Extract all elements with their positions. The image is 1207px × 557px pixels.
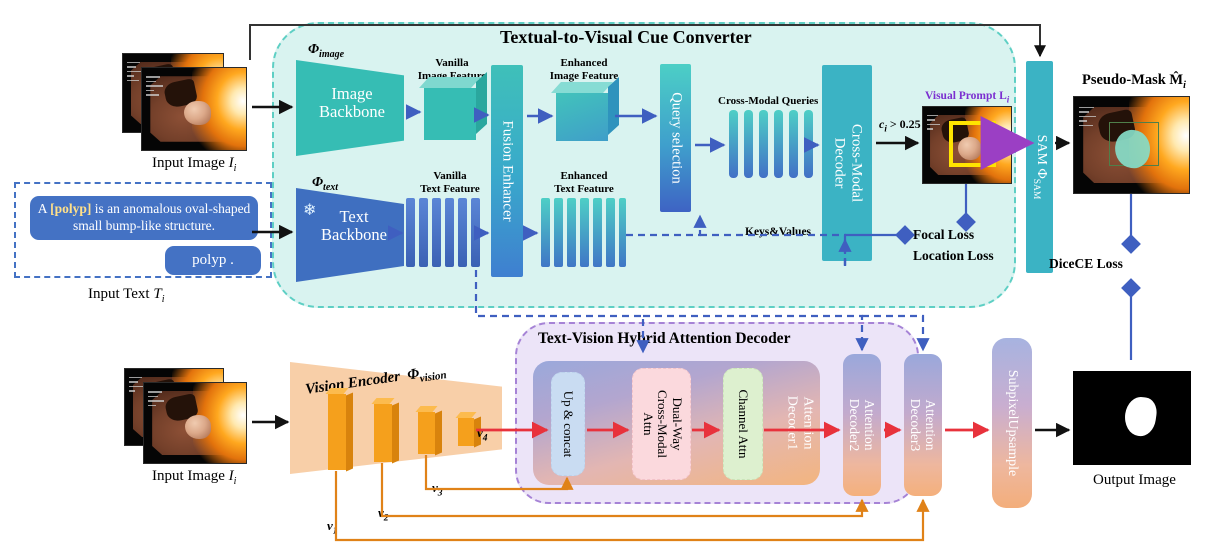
- phi-image-symbol: Φimage: [308, 42, 344, 60]
- vanilla-image-feature-cube: [424, 88, 476, 140]
- vision-stage-1: [328, 394, 346, 470]
- up-and-concat-block: Up & concat: [551, 372, 585, 476]
- attention-decoder-2: Attention Decoder2: [843, 354, 881, 496]
- input-image-caption-top-text: Input Image: [152, 155, 225, 171]
- vanilla-text-feature-label: Vanilla Text Feature: [407, 170, 493, 195]
- input-text-caption: Input Text Ti: [88, 286, 164, 305]
- dual-way-cross-modal-attn-block: Dual-Way Cross-Modal Attn: [632, 368, 691, 480]
- cross-modal-decoder-block: Cross-Modal Decoder: [822, 65, 872, 261]
- input-image-thumb-front: [141, 67, 247, 151]
- dicece-loss-label: DiceCE Loss: [1049, 256, 1123, 272]
- input-image-caption-bottom: Input Image Ii: [152, 468, 236, 487]
- v2-label: v2: [378, 505, 389, 524]
- phi-text-symbol: Φtext: [312, 175, 338, 193]
- output-image: [1073, 371, 1191, 465]
- visual-prompt-image: [922, 106, 1012, 184]
- entity-highlight: [polyp]: [50, 201, 91, 216]
- cross-modal-decoder-label-2: Decoder: [830, 124, 847, 202]
- vision-stage-2: [374, 404, 392, 462]
- vision-stage-3: [418, 412, 435, 454]
- visual-prompt-label: Visual Prompt Li: [925, 90, 1009, 104]
- text-backbone-label: Text Backbone: [304, 208, 404, 244]
- focal-loss-label: Focal Loss: [913, 227, 974, 243]
- sam-block: SAM ΦSAM: [1026, 61, 1053, 273]
- text-prompt-short[interactable]: polyp .: [165, 246, 261, 275]
- keys-values-label: Keys&Values: [745, 226, 811, 238]
- hybrid-decoder-title: Text-Vision Hybrid Attention Decoder: [538, 330, 790, 348]
- bounding-box-highlight: [949, 121, 996, 167]
- fusion-enhancer-label: Fusion Enhancer: [499, 120, 516, 221]
- attention-decoder-1-label-wrap: Attention Decoder1: [781, 361, 819, 485]
- confidence-threshold-label: ci > 0.25: [879, 117, 921, 133]
- attention-decoder-3: Attention Decoder3: [904, 354, 942, 496]
- cross-modal-queries-label: Cross-Modal Queries: [718, 95, 818, 107]
- vision-stage-4: [458, 418, 474, 446]
- image-backbone-label: Image Backbone: [304, 85, 400, 121]
- enhanced-image-feature-cube: [556, 93, 608, 141]
- v1-label: v1: [327, 518, 338, 537]
- location-loss-label: Location Loss: [913, 248, 994, 264]
- input-image-caption-top: Input Image Ii: [152, 155, 236, 174]
- pseudo-mask-image: [1073, 96, 1190, 194]
- subpixel-upsample-block: SubpixelUpsample: [992, 338, 1032, 508]
- query-selection-label: Query selection: [667, 92, 684, 183]
- architecture-diagram: Textual-to-Visual Cue Converter Text-Vis…: [0, 0, 1207, 557]
- enhanced-text-feature-label: Enhanced Text Feature: [540, 170, 628, 195]
- v3-label: v3: [432, 480, 443, 499]
- query-selection-block: Query selection: [660, 64, 691, 212]
- pseudo-mask-label: Pseudo-Mask M̂i: [1082, 72, 1186, 91]
- v4-label: v4: [477, 425, 488, 444]
- input-image-thumb-bottom-front: [143, 382, 247, 464]
- channel-attn-block: Channel Attn: [723, 368, 763, 480]
- sam-label: SAM ΦSAM: [1031, 135, 1049, 200]
- cue-converter-title: Textual-to-Visual Cue Converter: [500, 27, 752, 48]
- output-image-caption: Output Image: [1093, 472, 1176, 489]
- fusion-enhancer-block: Fusion Enhancer: [491, 65, 523, 277]
- cross-modal-decoder-label-1: Cross-Modal: [847, 124, 864, 202]
- input-image-symbol-sub-top: i: [234, 163, 237, 174]
- text-prompt-long[interactable]: A [polyp] is an anomalous oval-shaped sm…: [30, 196, 258, 240]
